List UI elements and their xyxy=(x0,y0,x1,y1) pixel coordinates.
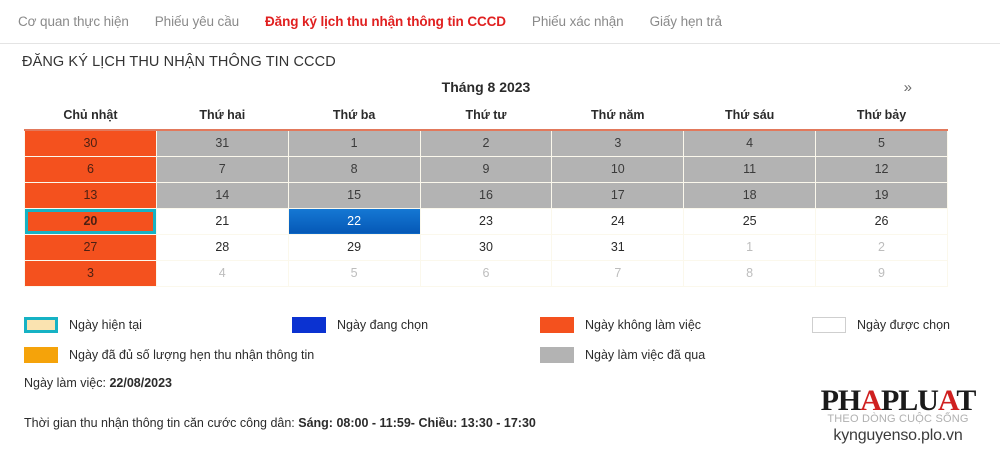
calendar-day-cell[interactable]: 29 xyxy=(288,234,420,260)
calendar-day-cell[interactable]: 3 xyxy=(552,130,684,156)
calendar-legend: Ngày hiện tại Ngày đang chọn Ngày không … xyxy=(24,310,964,370)
calendar-month-label: Tháng 8 2023 xyxy=(24,79,948,95)
time-info-line: Thời gian thu nhận thông tin căn cước cô… xyxy=(24,416,536,430)
watermark-url: kynguyenso.plo.vn xyxy=(808,427,988,445)
calendar-day-cell[interactable]: 30 xyxy=(25,130,157,156)
calendar-day-cell[interactable]: 7 xyxy=(552,260,684,286)
calendar-table: Chủ nhật Thứ hai Thứ ba Thứ tư Thứ năm T… xyxy=(24,102,948,287)
calendar-day-cell[interactable]: 6 xyxy=(420,260,552,286)
calendar-day-cell[interactable]: 31 xyxy=(156,130,288,156)
phapluat-logo: PHAPLUAT xyxy=(821,385,976,417)
calendar-day-cell[interactable]: 1 xyxy=(288,130,420,156)
legend-row-1: Ngày hiện tại Ngày đang chọn Ngày không … xyxy=(24,310,964,340)
legend-label-past: Ngày làm việc đã qua xyxy=(585,348,705,362)
working-date-label: Ngày làm việc: xyxy=(24,376,109,390)
weekday-header-monday: Thứ hai xyxy=(156,102,288,130)
calendar-weekday-header-row: Chủ nhật Thứ hai Thứ ba Thứ tư Thứ năm T… xyxy=(25,102,948,130)
calendar-day-cell[interactable]: 20 xyxy=(25,208,157,234)
legend-swatch-off-icon xyxy=(540,317,574,333)
calendar-week-row: 6789101112 xyxy=(25,156,948,182)
calendar-day-cell[interactable]: 9 xyxy=(420,156,552,182)
calendar-day-cell[interactable]: 5 xyxy=(288,260,420,286)
calendar-day-cell[interactable]: 4 xyxy=(156,260,288,286)
calendar-day-cell[interactable]: 5 xyxy=(816,130,948,156)
calendar-day-cell[interactable]: 21 xyxy=(156,208,288,234)
calendar-day-cell[interactable]: 3 xyxy=(25,260,157,286)
calendar-day-cell[interactable]: 27 xyxy=(25,234,157,260)
legend-label-selected: Ngày đang chọn xyxy=(337,318,428,332)
weekday-header-sunday: Chủ nhật xyxy=(25,102,157,130)
legend-row-2: Ngày đã đủ số lượng hẹn thu nhận thông t… xyxy=(24,340,964,370)
calendar-day-cell[interactable]: 15 xyxy=(288,182,420,208)
legend-label-full: Ngày đã đủ số lượng hẹn thu nhận thông t… xyxy=(69,348,314,362)
calendar-day-cell[interactable]: 11 xyxy=(684,156,816,182)
nav-item-co-quan-thuc-hien[interactable]: Cơ quan thực hiện xyxy=(18,14,129,29)
legend-swatch-selected-icon xyxy=(292,317,326,333)
logo-part-2: PLU xyxy=(881,384,938,417)
legend-item-selected: Ngày đang chọn xyxy=(292,317,540,333)
time-info-label: Thời gian thu nhận thông tin căn cước cô… xyxy=(24,416,298,430)
watermark: PHAPLUAT THEO DÒNG CUỘC SỐNG kynguyenso.… xyxy=(808,385,988,445)
legend-swatch-full-icon xyxy=(24,347,58,363)
legend-item-full: Ngày đã đủ số lượng hẹn thu nhận thông t… xyxy=(24,347,292,363)
calendar-day-cell[interactable]: 23 xyxy=(420,208,552,234)
legend-item-past: Ngày làm việc đã qua xyxy=(540,347,788,363)
working-date-line: Ngày làm việc: 22/08/2023 xyxy=(24,376,172,390)
weekday-header-tuesday: Thứ ba xyxy=(288,102,420,130)
legend-swatch-past-icon xyxy=(540,347,574,363)
calendar-day-cell[interactable]: 17 xyxy=(552,182,684,208)
calendar-day-cell[interactable]: 10 xyxy=(552,156,684,182)
weekday-header-thursday: Thứ năm xyxy=(552,102,684,130)
calendar-day-cell[interactable]: 25 xyxy=(684,208,816,234)
calendar-week-row: 303112345 xyxy=(25,130,948,156)
calendar-body: 3031123456789101112131415161718192021222… xyxy=(25,130,948,286)
calendar-day-cell[interactable]: 7 xyxy=(156,156,288,182)
calendar-day-cell[interactable]: 1 xyxy=(684,234,816,260)
nav-item-giay-hen-tra[interactable]: Giấy hẹn trả xyxy=(650,14,722,29)
legend-label-off: Ngày không làm việc xyxy=(585,318,701,332)
logo-part-3: T xyxy=(956,384,975,417)
legend-item-off: Ngày không làm việc xyxy=(540,317,812,333)
calendar-day-cell[interactable]: 31 xyxy=(552,234,684,260)
calendar-day-cell[interactable]: 24 xyxy=(552,208,684,234)
calendar-week-row: 272829303112 xyxy=(25,234,948,260)
nav-item-phieu-xac-nhan[interactable]: Phiếu xác nhận xyxy=(532,14,624,29)
calendar-day-cell[interactable]: 8 xyxy=(684,260,816,286)
legend-item-today: Ngày hiện tại xyxy=(24,317,292,333)
weekday-header-saturday: Thứ bảy xyxy=(816,102,948,130)
working-date-value: 22/08/2023 xyxy=(109,376,172,390)
calendar-week-row: 3456789 xyxy=(25,260,948,286)
next-month-icon[interactable]: » xyxy=(904,78,912,98)
time-info-value: Sáng: 08:00 - 11:59- Chiều: 13:30 - 17:3… xyxy=(298,416,536,430)
calendar-week-row: 20212223242526 xyxy=(25,208,948,234)
calendar-day-cell[interactable]: 2 xyxy=(420,130,552,156)
legend-swatch-today-icon xyxy=(24,317,58,333)
calendar-day-cell[interactable]: 2 xyxy=(816,234,948,260)
calendar-header: Tháng 8 2023 » xyxy=(24,78,948,102)
logo-accent-2: A xyxy=(938,384,956,417)
page-title: ĐĂNG KÝ LỊCH THU NHẬN THÔNG TIN CCCD xyxy=(22,54,336,70)
calendar-day-cell[interactable]: 28 xyxy=(156,234,288,260)
legend-label-open: Ngày được chọn xyxy=(857,318,950,332)
calendar-day-cell[interactable]: 19 xyxy=(816,182,948,208)
top-navigation: Cơ quan thực hiện Phiếu yêu cầu Đăng ký … xyxy=(0,0,1000,44)
calendar-day-cell[interactable]: 9 xyxy=(816,260,948,286)
calendar: Tháng 8 2023 » Chủ nhật Thứ hai Thứ ba T… xyxy=(24,78,948,287)
calendar-day-cell[interactable]: 16 xyxy=(420,182,552,208)
nav-item-phieu-yeu-cau[interactable]: Phiếu yêu cầu xyxy=(155,14,239,29)
calendar-day-cell[interactable]: 26 xyxy=(816,208,948,234)
calendar-day-cell[interactable]: 8 xyxy=(288,156,420,182)
weekday-header-friday: Thứ sáu xyxy=(684,102,816,130)
logo-accent-1: A xyxy=(860,384,881,417)
calendar-week-row: 13141516171819 xyxy=(25,182,948,208)
calendar-day-cell[interactable]: 4 xyxy=(684,130,816,156)
calendar-day-cell[interactable]: 12 xyxy=(816,156,948,182)
calendar-day-cell[interactable]: 22 xyxy=(288,208,420,234)
calendar-day-cell[interactable]: 13 xyxy=(25,182,157,208)
logo-part-1: PH xyxy=(821,384,861,417)
legend-label-today: Ngày hiện tại xyxy=(69,318,142,332)
weekday-header-wednesday: Thứ tư xyxy=(420,102,552,130)
legend-item-open: Ngày được chọn xyxy=(812,317,962,333)
legend-swatch-open-icon xyxy=(812,317,846,333)
nav-item-dang-ky-lich[interactable]: Đăng ký lịch thu nhận thông tin CCCD xyxy=(265,14,506,29)
calendar-day-cell[interactable]: 18 xyxy=(684,182,816,208)
calendar-day-cell[interactable]: 14 xyxy=(156,182,288,208)
calendar-day-cell[interactable]: 6 xyxy=(25,156,157,182)
calendar-day-cell[interactable]: 30 xyxy=(420,234,552,260)
